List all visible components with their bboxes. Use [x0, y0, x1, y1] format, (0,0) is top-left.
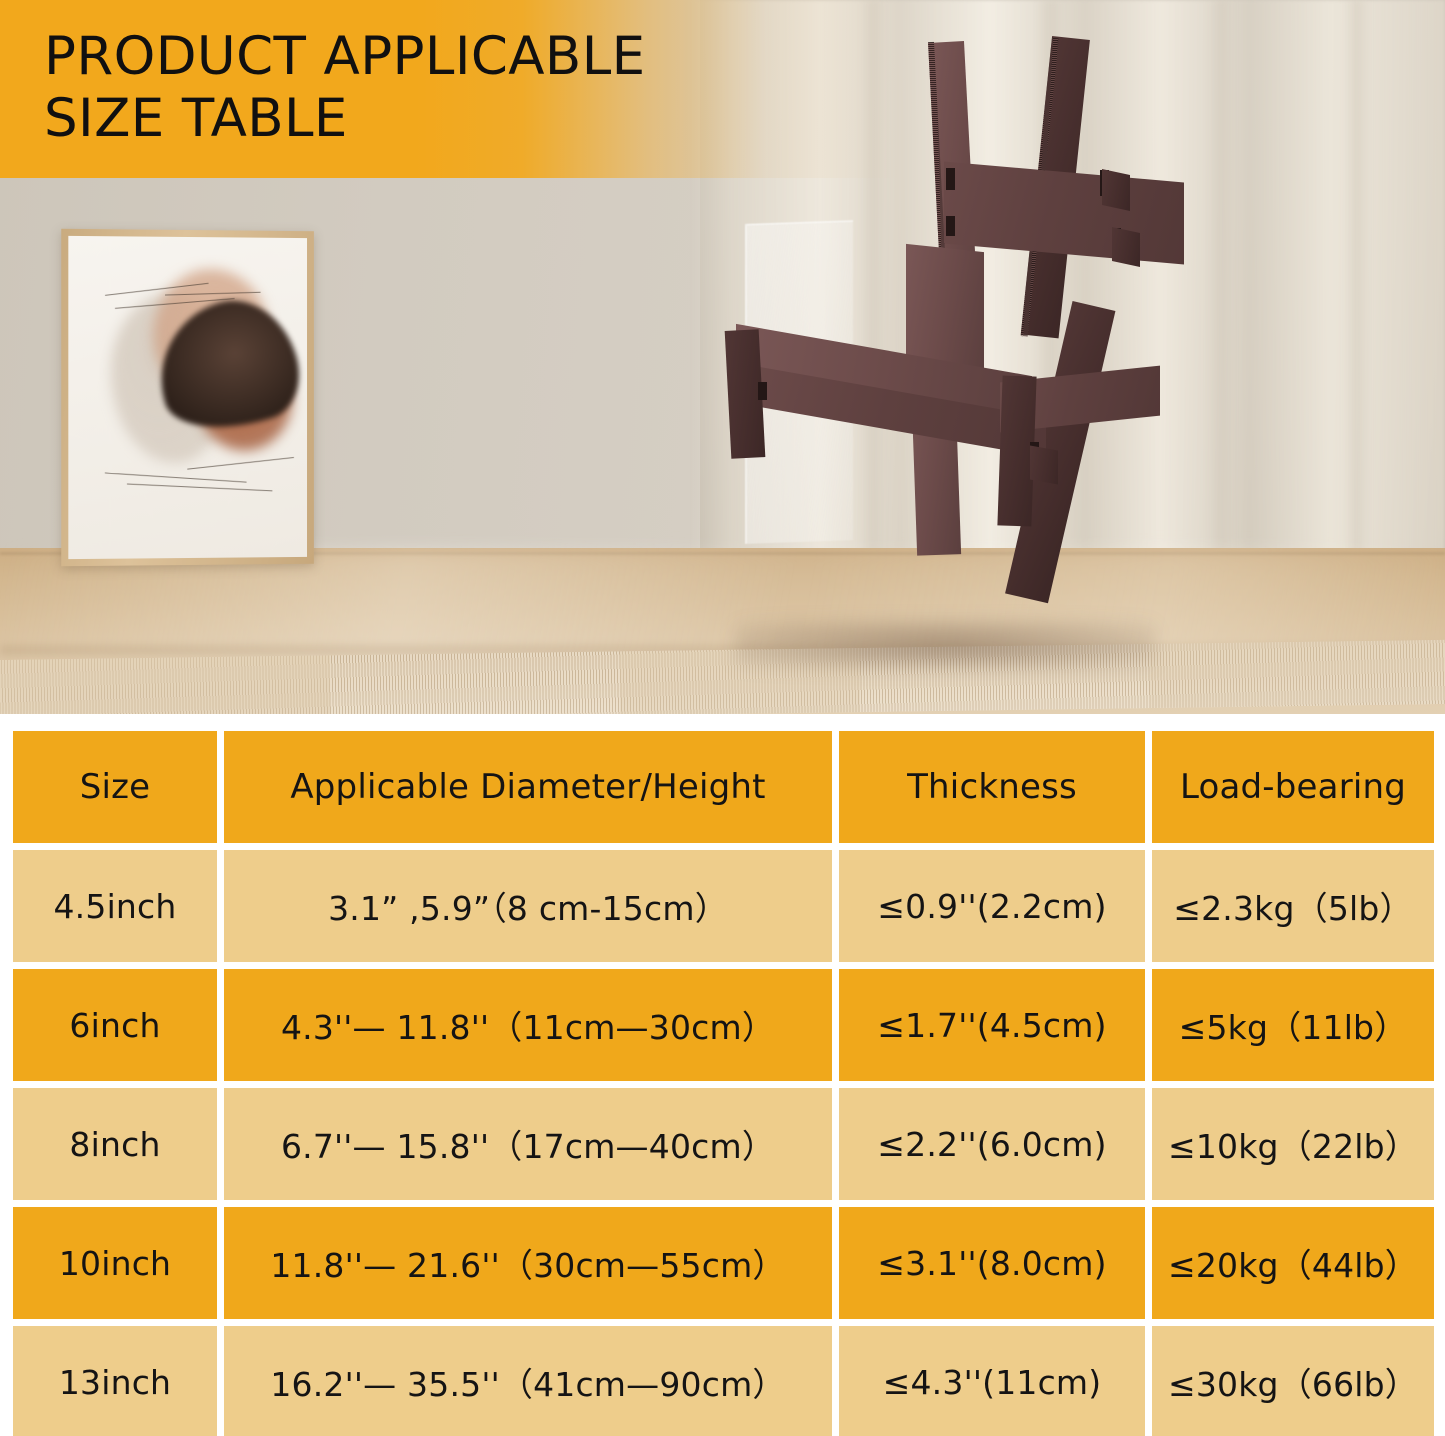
cell-load-bearing: ≤20kg（44lb）	[1152, 1207, 1434, 1319]
cell-diameter-height: 11.8''— 21.6''（30cm—55cm）	[224, 1207, 832, 1319]
curtain-fold	[1345, 0, 1369, 560]
table-row: 8inch 6.7''— 15.8''（17cm—40cm） ≤2.2''(6.…	[13, 1088, 1434, 1200]
table-row: 4.5inch 3.1” ,5.9”（8 cm-15cm） ≤0.9''(2.2…	[13, 850, 1434, 962]
size-table: Size Applicable Diameter/Height Thicknes…	[13, 731, 1434, 1436]
cell-load-bearing: ≤5kg（11lb）	[1152, 969, 1434, 1081]
title-banner: PRODUCT APPLICABLE SIZE TABLE	[0, 0, 900, 178]
cell-load-bearing: ≤2.3kg（5lb）	[1152, 850, 1434, 962]
cell-diameter-height: 3.1” ,5.9”（8 cm-15cm）	[224, 850, 832, 962]
stand-upper-rail	[944, 162, 1184, 265]
cell-size: 8inch	[13, 1088, 217, 1200]
cell-thickness: ≤0.9''(2.2cm)	[839, 850, 1145, 962]
column-header-load-bearing: Load-bearing	[1152, 731, 1434, 843]
stand-slot-notch	[758, 382, 767, 400]
stand-tab-tongue	[1030, 446, 1058, 485]
table-row: 6inch 4.3''— 11.8''（11cm—30cm） ≤1.7''(4.…	[13, 969, 1434, 1081]
cell-size: 6inch	[13, 969, 217, 1081]
cell-diameter-height: 16.2''— 35.5''（41cm—90cm）	[224, 1326, 832, 1436]
column-header-size: Size	[13, 731, 217, 843]
art-canvas	[68, 236, 307, 559]
cell-thickness: ≤2.2''(6.0cm)	[839, 1088, 1145, 1200]
product-size-table-infographic: PRODUCT APPLICABLE SIZE TABLE Size Appli…	[0, 0, 1445, 1436]
stand-slot-notch	[946, 216, 955, 236]
stand-tab-tongue	[1102, 169, 1130, 211]
page-title: PRODUCT APPLICABLE SIZE TABLE	[44, 26, 864, 150]
cell-size: 4.5inch	[13, 850, 217, 962]
column-header-diameter-height: Applicable Diameter/Height	[224, 731, 832, 843]
cell-diameter-height: 4.3''— 11.8''（11cm—30cm）	[224, 969, 832, 1081]
cell-thickness: ≤1.7''(4.5cm)	[839, 969, 1145, 1081]
table-row: 13inch 16.2''— 35.5''（41cm—90cm） ≤4.3''(…	[13, 1326, 1434, 1436]
cell-load-bearing: ≤30kg（66lb）	[1152, 1326, 1434, 1436]
cell-diameter-height: 6.7''— 15.8''（17cm—40cm）	[224, 1088, 832, 1200]
cell-load-bearing: ≤10kg（22lb）	[1152, 1088, 1434, 1200]
art-line	[105, 472, 247, 482]
table-header-row: Size Applicable Diameter/Height Thicknes…	[13, 731, 1434, 843]
table-row: 10inch 11.8''— 21.6''（30cm—55cm） ≤3.1''(…	[13, 1207, 1434, 1319]
cell-thickness: ≤4.3''(11cm)	[839, 1326, 1145, 1436]
column-header-thickness: Thickness	[839, 731, 1145, 843]
art-line	[187, 457, 294, 470]
stand-tab-tongue	[1112, 227, 1140, 267]
stand-slot-notch	[946, 168, 955, 190]
cell-thickness: ≤3.1''(8.0cm)	[839, 1207, 1145, 1319]
cell-size: 10inch	[13, 1207, 217, 1319]
art-line	[127, 483, 272, 491]
cell-size: 13inch	[13, 1326, 217, 1436]
framed-art-print	[61, 229, 314, 566]
